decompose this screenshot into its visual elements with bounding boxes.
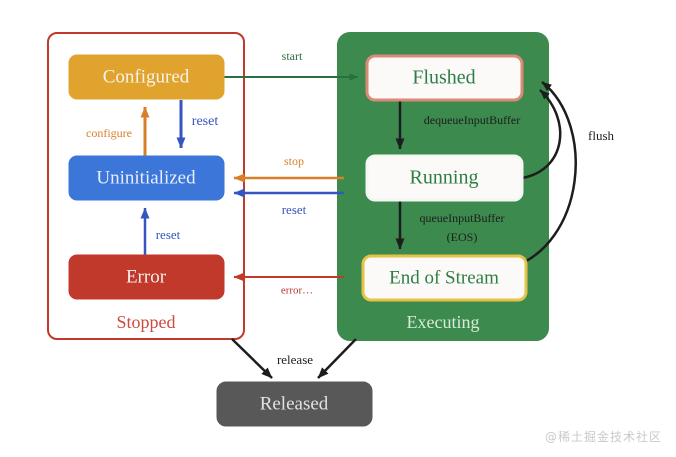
transition-reset-configured: reset bbox=[181, 100, 218, 148]
state-released[interactable]: Released bbox=[217, 382, 372, 426]
state-error-label: Error bbox=[126, 266, 167, 287]
state-released-label: Released bbox=[260, 393, 329, 414]
transition-error: error… bbox=[234, 277, 344, 297]
state-flushed-label: Flushed bbox=[412, 67, 475, 89]
transition-error-label: error… bbox=[281, 285, 313, 297]
group-executing-label: Executing bbox=[407, 312, 480, 332]
state-uninitialized[interactable]: Uninitialized bbox=[69, 156, 224, 200]
transition-reset-configured-label: reset bbox=[192, 114, 219, 129]
transition-release-stopped-line bbox=[232, 339, 272, 378]
transition-stop-label: stop bbox=[284, 154, 304, 168]
transition-reset-error: reset bbox=[145, 208, 181, 255]
state-configured-label: Configured bbox=[103, 66, 190, 87]
group-stopped-label: Stopped bbox=[116, 312, 175, 332]
state-running[interactable]: Running bbox=[367, 156, 522, 200]
transition-dequeue-input-buffer-label: dequeueInputBuffer bbox=[424, 113, 520, 127]
transition-configure-label: configure bbox=[86, 126, 132, 140]
state-flushed[interactable]: Flushed bbox=[367, 56, 522, 100]
transition-release-stopped bbox=[232, 339, 272, 378]
state-error[interactable]: Error bbox=[69, 255, 224, 299]
state-end-of-stream[interactable]: End of Stream bbox=[363, 256, 526, 300]
state-configured[interactable]: Configured bbox=[69, 55, 224, 99]
transition-release-label: release bbox=[277, 352, 313, 367]
transition-reset-executing-label: reset bbox=[282, 202, 307, 217]
transition-reset-error-label: reset bbox=[156, 227, 181, 242]
transition-reset-executing: reset bbox=[234, 193, 344, 217]
transition-release-executing-line bbox=[318, 339, 356, 378]
transition-configure: configure bbox=[86, 107, 145, 156]
state-uninitialized-label: Uninitialized bbox=[96, 167, 196, 188]
transition-stop: stop bbox=[234, 154, 344, 178]
watermark: @稀土掘金技术社区 bbox=[545, 428, 662, 445]
state-diagram: Stopped Executing start reset configure … bbox=[0, 0, 676, 457]
transition-flush-label: flush bbox=[588, 128, 615, 143]
state-running-label: Running bbox=[410, 167, 479, 189]
state-end-of-stream-label: End of Stream bbox=[389, 267, 499, 288]
transition-queue-input-buffer-eos-label2: (EOS) bbox=[447, 230, 478, 244]
transition-queue-input-buffer-eos-label: queueInputBuffer bbox=[419, 211, 504, 225]
diagram-canvas: Stopped Executing start reset configure … bbox=[0, 0, 676, 457]
transition-release-executing: release bbox=[277, 339, 356, 378]
transition-start-label: start bbox=[282, 49, 303, 63]
